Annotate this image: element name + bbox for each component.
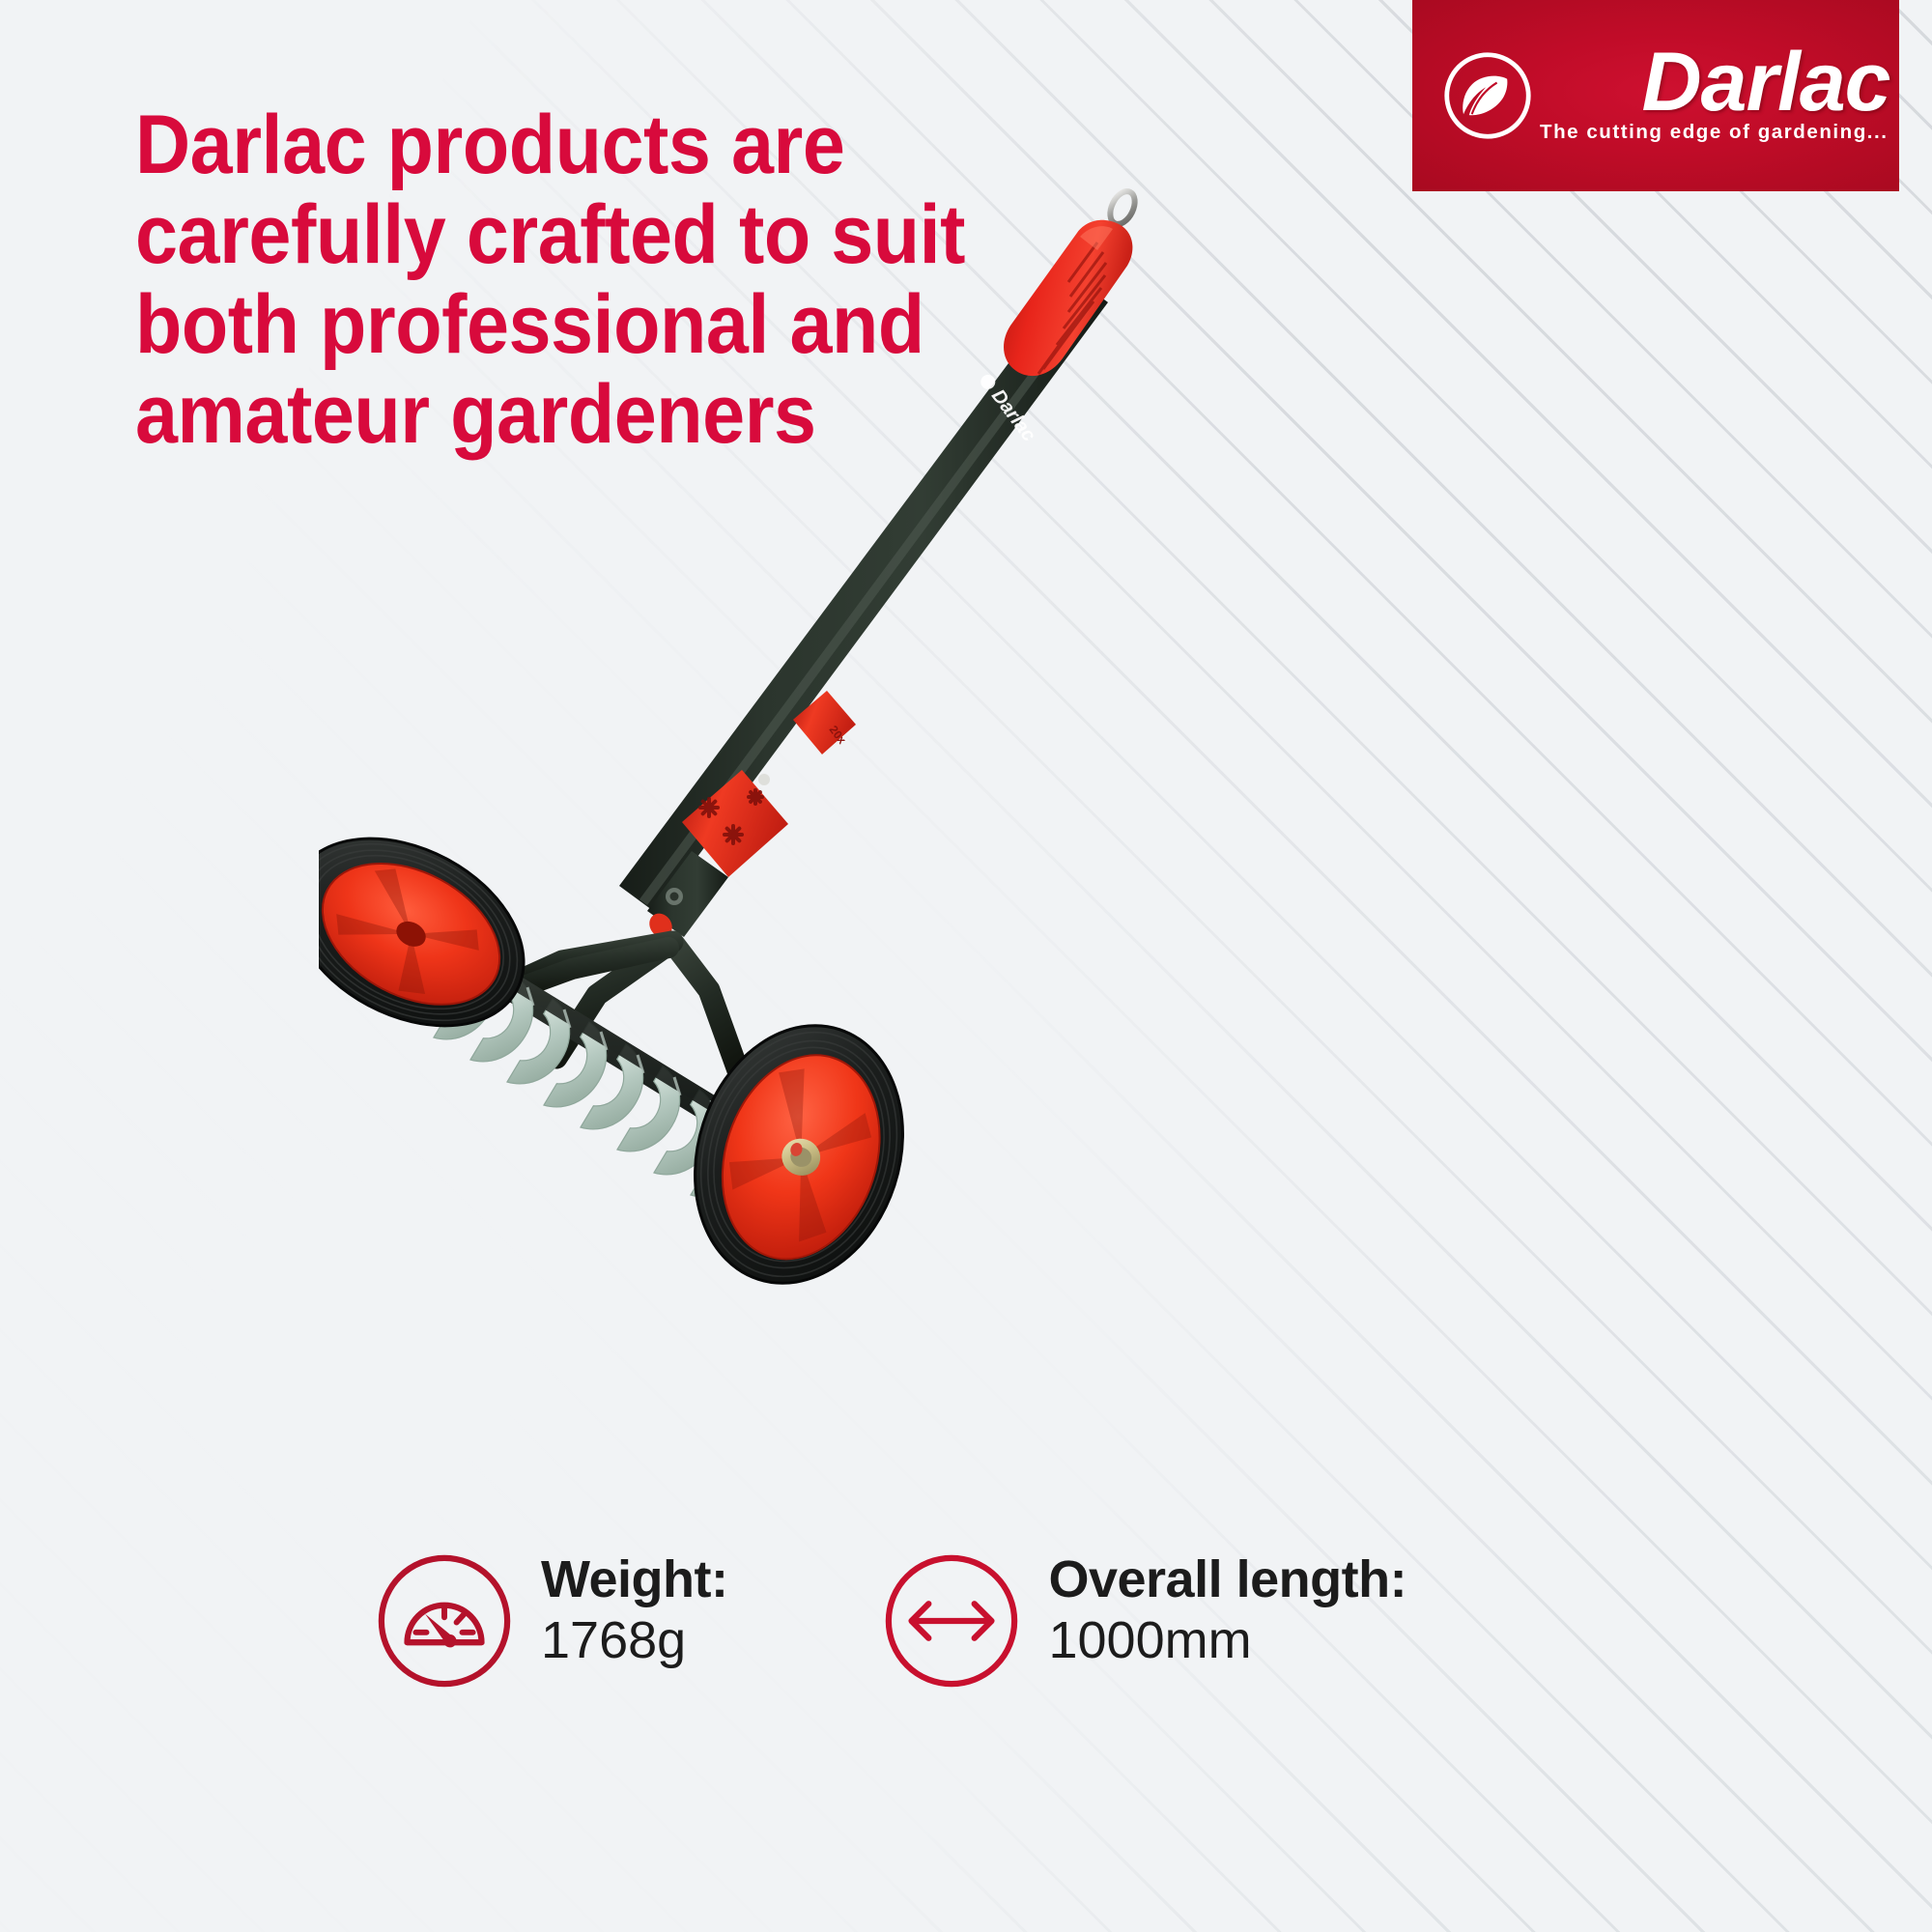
brand-wordmark: Darlac <box>1642 44 1890 120</box>
brand-tagline: The cutting edge of gardening... <box>1540 121 1889 144</box>
spec-text-overall-length: Overall length: 1000mm <box>1048 1542 1406 1671</box>
right-wheel <box>663 999 935 1311</box>
spec-label-overall-length: Overall length: <box>1048 1549 1406 1609</box>
darlac-leaf-circle-emblem-icon <box>1441 49 1534 142</box>
spec-value-overall-length: 1000mm <box>1048 1609 1406 1671</box>
spec-label-weight: Weight: <box>541 1549 727 1609</box>
product-image-rolling-lawn-aerator: Darlac 20x <box>319 169 1575 1425</box>
infographic-canvas: Darlac products are carefully crafted to… <box>0 0 1932 1932</box>
gauge-icon <box>373 1549 516 1692</box>
double-arrow-horizontal-icon <box>880 1549 1023 1692</box>
spec-item-overall-length: Overall length: 1000mm <box>880 1542 1406 1692</box>
brand-logo-box: Darlac The cutting edge of gardening... <box>1412 0 1899 191</box>
spec-strip: Weight: 1768g Overall length: 1000mm <box>373 1542 1406 1692</box>
spec-item-weight: Weight: 1768g <box>373 1542 727 1692</box>
spec-text-weight: Weight: 1768g <box>541 1542 727 1671</box>
spec-value-weight: 1768g <box>541 1609 727 1671</box>
